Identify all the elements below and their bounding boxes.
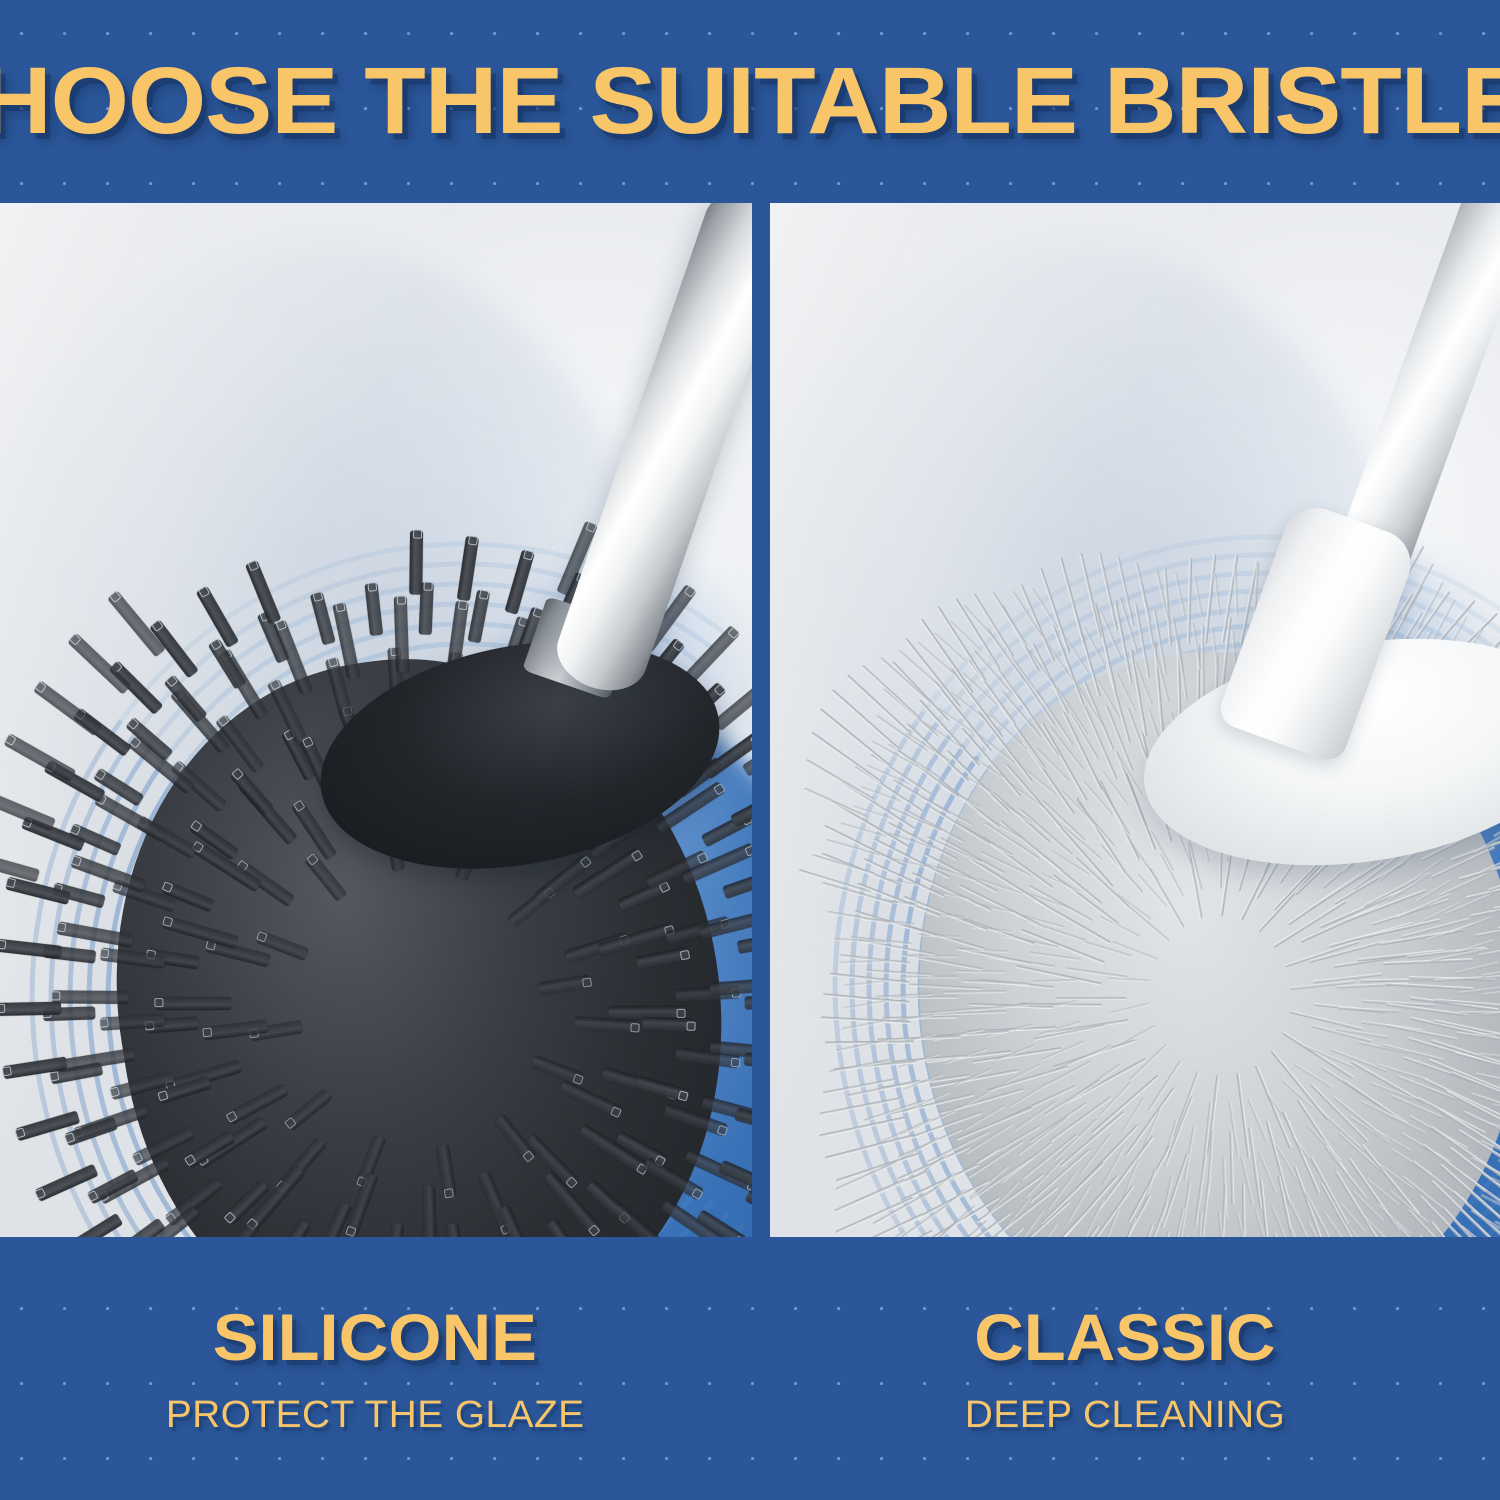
classic-bristle bbox=[1481, 1033, 1500, 1037]
caption-subtitle-classic: DEEP CLEANING bbox=[965, 1396, 1285, 1434]
silicone-bristle bbox=[163, 915, 240, 949]
silicone-bristle bbox=[273, 1219, 312, 1237]
caption-bar: SILICONE PROTECT THE GLAZE CLASSIC DEEP … bbox=[0, 1237, 1500, 1500]
silicone-bristle bbox=[635, 1076, 689, 1102]
classic-bristle bbox=[1242, 1184, 1246, 1237]
silicone-bristle bbox=[559, 1080, 623, 1119]
panel-silicone-photo bbox=[0, 203, 752, 1237]
silicone-bristle bbox=[636, 947, 690, 970]
silicone-bristle bbox=[155, 997, 231, 1010]
silicone-bristle bbox=[643, 1017, 695, 1032]
classic-bristle bbox=[944, 990, 1006, 994]
silicone-bristle bbox=[534, 854, 592, 904]
caption-title-silicone: SILICONE bbox=[213, 1304, 537, 1370]
classic-bristle bbox=[918, 933, 961, 938]
classic-bristle bbox=[1100, 1207, 1121, 1237]
classic-bristle bbox=[1109, 1002, 1151, 1015]
caption-classic: CLASSIC DEEP CLEANING bbox=[750, 1237, 1500, 1500]
classic-bristle bbox=[1053, 821, 1113, 889]
classic-bristle bbox=[1028, 951, 1080, 961]
classic-bristle bbox=[1255, 1065, 1292, 1149]
classic-bristle bbox=[1107, 977, 1151, 982]
classic-bristle bbox=[1099, 916, 1141, 939]
silicone-bristle bbox=[284, 1088, 333, 1131]
silicone-bristle bbox=[745, 995, 752, 1010]
classic-bristle bbox=[1123, 902, 1169, 942]
silicone-bristle bbox=[53, 991, 129, 1005]
silicone-bristle bbox=[422, 1186, 437, 1237]
classic-bristle bbox=[1386, 983, 1474, 991]
silicone-bristle bbox=[618, 879, 671, 912]
silicone-bristle bbox=[538, 975, 591, 996]
classic-bristle bbox=[1054, 997, 1126, 1000]
classic-bristle bbox=[1186, 842, 1203, 919]
silicone-bristle bbox=[0, 1001, 61, 1015]
silicone-bristle bbox=[446, 1223, 470, 1237]
caption-subtitle-silicone: PROTECT THE GLAZE bbox=[166, 1396, 585, 1434]
caption-silicone: SILICONE PROTECT THE GLAZE bbox=[0, 1237, 750, 1500]
silicone-bristle bbox=[574, 1017, 639, 1034]
silicone-bristle bbox=[381, 1222, 404, 1237]
panel-classic-photo bbox=[770, 203, 1500, 1237]
classic-bristle bbox=[1494, 892, 1500, 911]
silicone-bristle bbox=[409, 530, 423, 594]
silicone-bristle bbox=[531, 1054, 584, 1085]
classic-bristle bbox=[909, 983, 982, 990]
classic-bristle bbox=[1117, 894, 1153, 922]
classic-bristle bbox=[963, 979, 1030, 985]
classic-bristle bbox=[1009, 1082, 1049, 1108]
classic-bristle bbox=[1383, 958, 1473, 965]
silicone-bristle bbox=[304, 854, 347, 903]
panel-divider bbox=[752, 203, 770, 1237]
caption-title-classic: CLASSIC bbox=[974, 1304, 1275, 1370]
silicone-bristle bbox=[230, 768, 274, 816]
comparison-panels bbox=[0, 203, 1500, 1237]
header-banner: CHOOSE THE SUITABLE BRISTLES bbox=[0, 0, 1500, 203]
classic-bristle bbox=[1033, 979, 1079, 984]
classic-bristle bbox=[1338, 1007, 1399, 1013]
silicone-bristle bbox=[435, 1144, 456, 1197]
infographic-root: CHOOSE THE SUITABLE BRISTLES bbox=[0, 0, 1500, 1500]
classic-bristle bbox=[1237, 1073, 1251, 1159]
page-title: CHOOSE THE SUITABLE BRISTLES bbox=[0, 54, 1500, 149]
classic-bristle bbox=[1475, 921, 1500, 937]
